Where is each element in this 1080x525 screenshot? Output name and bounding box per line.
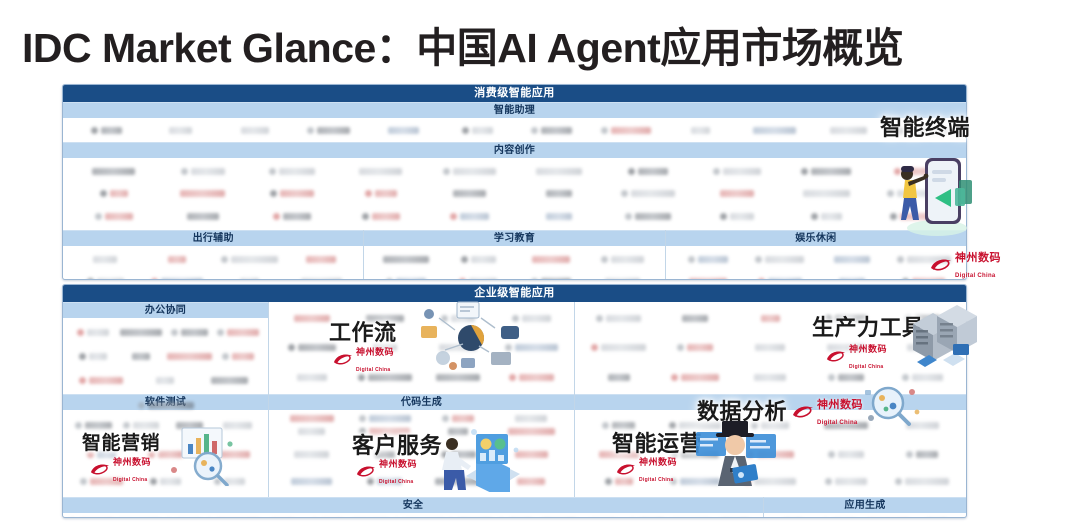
vendor-logo-placeholder — [158, 183, 247, 206]
vendor-logo-placeholder — [117, 344, 165, 368]
vendor-logo-placeholder — [218, 120, 292, 140]
vendor-logo-mark-icon — [307, 127, 314, 134]
vendor-logo-mark-icon — [79, 377, 86, 384]
digital-china-swoosh-icon — [90, 463, 110, 476]
brand-logo-smart-terminal: 神州数码 Digital China — [930, 249, 1001, 281]
vendor-logo-placeholder — [744, 270, 816, 280]
vendor-logo-wordmark — [92, 168, 135, 175]
vendor-logo-placeholder — [247, 205, 336, 228]
vendor-logo-wordmark — [541, 278, 571, 281]
vendor-logo-wordmark — [730, 213, 754, 220]
brand-logo-smart-marketing: 神州数码 Digital China — [90, 453, 151, 485]
brand-name-cn: 神州数码 — [113, 457, 151, 467]
vendor-logo-mark-icon — [677, 344, 684, 351]
vendor-logo-wordmark — [821, 213, 842, 220]
vendor-logo-wordmark — [180, 190, 225, 197]
vendor-logo-wordmark — [546, 190, 572, 197]
vendor-logo-wordmark — [290, 415, 334, 422]
logo-grid-travel-assist — [63, 246, 363, 280]
vendor-logo-wordmark — [839, 278, 865, 281]
vendor-logo-mark-icon — [688, 256, 695, 263]
vendor-logo-placeholder — [166, 320, 214, 344]
vendor-logo-wordmark — [436, 374, 480, 381]
vendor-logo-wordmark — [105, 213, 133, 220]
vendor-logo-wordmark — [448, 428, 468, 435]
vendor-logo-wordmark — [167, 353, 212, 360]
brand-logo-data-analysis: 神州数码 Digital China — [792, 396, 863, 428]
vendor-logo-placeholder — [581, 363, 657, 392]
vendor-logo-mark-icon — [443, 168, 450, 175]
vendor-logo-placeholder — [69, 120, 143, 140]
vendor-logo-placeholder — [812, 120, 886, 140]
vendor-logo-placeholder — [69, 344, 117, 368]
vendor-logo-wordmark — [451, 315, 475, 322]
vendor-logo-placeholder — [884, 468, 960, 495]
vendor-logo-wordmark — [757, 451, 794, 458]
vendor-logo-placeholder — [77, 369, 125, 393]
vendor-logo-placeholder — [693, 160, 782, 183]
callout-label-smart-terminal: 智能终端 — [880, 110, 970, 142]
vendor-logo-placeholder — [214, 344, 262, 368]
vendor-logo-placeholder — [370, 248, 442, 270]
vendor-logo-mark-icon — [811, 213, 818, 220]
column-learning-education: 学习教育 — [364, 230, 665, 280]
vendor-logo-placeholder — [292, 120, 366, 140]
vendor-logo-placeholder — [447, 515, 493, 518]
vendor-logo-placeholder — [816, 248, 888, 270]
vendor-logo-wordmark — [181, 329, 208, 336]
vendor-logo-placeholder — [285, 270, 357, 280]
logo-grid-content-creation — [63, 158, 966, 230]
vendor-logo-placeholder — [495, 333, 568, 362]
enterprise-section-header: 企业级智能应用 — [63, 285, 966, 302]
vendor-logo-mark-icon — [897, 256, 904, 263]
vendor-logo-wordmark — [223, 422, 252, 429]
vendor-logo-placeholder — [820, 515, 858, 518]
vendor-logo-placeholder — [69, 183, 158, 206]
sub-header-app-generation: 应用生成 — [764, 497, 966, 513]
brand-name-en: Digital China — [356, 367, 390, 373]
sub-header-travel-assist: 出行辅助 — [63, 230, 363, 246]
sub-header-learning-education: 学习教育 — [364, 230, 664, 246]
vendor-logo-wordmark — [169, 127, 192, 134]
vendor-logo-wordmark — [907, 344, 938, 351]
vendor-logo-mark-icon — [77, 329, 84, 336]
sub-header-office-collaboration: 办公协同 — [63, 302, 268, 318]
vendor-logo-mark-icon — [906, 451, 913, 458]
vendor-logo-wordmark — [297, 374, 327, 381]
vendor-logo-wordmark — [515, 344, 558, 351]
vendor-logo-wordmark — [460, 213, 489, 220]
vendor-logo-mark-icon — [273, 213, 280, 220]
vendor-logo-mark-icon — [214, 478, 221, 485]
vendor-logo-placeholder — [514, 270, 586, 280]
vendor-logo-wordmark — [369, 415, 411, 422]
vendor-logo-placeholder — [349, 515, 392, 518]
vendor-logo-placeholder — [422, 333, 495, 362]
enterprise-lower-columns — [63, 439, 966, 497]
vendor-logo-wordmark — [811, 168, 851, 175]
vendor-logo-mark-icon — [591, 344, 598, 351]
vendor-logo-wordmark — [601, 344, 646, 351]
vendor-logo-wordmark — [611, 127, 651, 134]
vendor-logo-placeholder — [206, 369, 254, 393]
vendor-logo-placeholder — [336, 205, 425, 228]
vendor-logo-wordmark — [638, 168, 668, 175]
vendor-logo-wordmark — [765, 256, 804, 263]
vendor-logo-placeholder — [214, 320, 262, 344]
column-entertainment-leisure: 娱乐休闲 — [666, 230, 966, 280]
vendor-logo-wordmark — [517, 478, 545, 485]
vendor-logo-wordmark — [375, 190, 397, 197]
vendor-logo-wordmark — [608, 374, 630, 381]
vendor-logo-placeholder — [733, 363, 809, 392]
vendor-logo-mark-icon — [362, 213, 369, 220]
vendor-logo-wordmark — [720, 190, 754, 197]
vendor-logo-placeholder — [884, 412, 960, 438]
vendor-logo-wordmark — [240, 278, 259, 281]
vendor-logo-placeholder — [871, 160, 960, 183]
vendor-logo-mark-icon — [442, 415, 449, 422]
vendor-logo-wordmark — [224, 478, 245, 485]
vendor-logo-placeholder — [604, 205, 693, 228]
vendor-logo-wordmark — [280, 190, 314, 197]
vendor-logo-placeholder — [867, 515, 910, 518]
vendor-logo-placeholder — [422, 468, 495, 495]
vendor-logo-wordmark — [682, 315, 708, 322]
consumer-section-header: 消费级智能应用 — [63, 85, 966, 102]
vendor-logo-mark-icon — [505, 344, 512, 351]
vendor-logo-wordmark — [834, 256, 870, 263]
vendor-logo-wordmark — [97, 278, 124, 281]
vendor-logo-mark-icon — [744, 478, 751, 485]
vendor-logo-placeholder — [582, 515, 625, 518]
page-title: IDC Market Glance：中国AI Agent应用市场概览 — [22, 14, 903, 74]
vendor-logo-mark-icon — [601, 127, 608, 134]
vendor-logo-wordmark — [279, 168, 315, 175]
vendor-logo-placeholder — [495, 441, 568, 468]
vendor-logo-placeholder — [581, 304, 657, 333]
brand-name-cn: 神州数码 — [639, 457, 677, 467]
vendor-logo-placeholder — [918, 515, 956, 518]
vendor-logo-placeholder — [348, 412, 421, 425]
vendor-logo-placeholder — [198, 468, 262, 495]
vendor-logo-mark-icon — [80, 478, 87, 485]
sub-header-code-generation: 代码生成 — [269, 394, 574, 410]
digital-china-swoosh-icon — [792, 405, 814, 419]
vendor-logo-placeholder — [69, 160, 158, 183]
brand-logo-workflow: 神州数码 Digital China — [333, 343, 394, 375]
vendor-logo-placeholder — [494, 515, 537, 518]
sub-header-content-creation: 内容创作 — [63, 142, 966, 158]
vendor-logo-mark-icon — [386, 278, 393, 281]
vendor-logo-placeholder — [657, 363, 733, 392]
vendor-logo-mark-icon — [509, 374, 516, 381]
vendor-logo-wordmark — [606, 315, 641, 322]
vendor-logo-placeholder — [336, 160, 425, 183]
vendor-logo-wordmark — [912, 374, 943, 381]
vendor-logo-wordmark — [916, 451, 938, 458]
vendor-logo-placeholder — [425, 160, 514, 183]
vendor-logo-wordmark — [680, 478, 720, 485]
vendor-logo-wordmark — [754, 374, 786, 381]
vendor-logo-wordmark — [698, 256, 728, 263]
brand-name-en: Digital China — [113, 477, 147, 483]
vendor-logo-wordmark — [754, 478, 796, 485]
vendor-logo-placeholder — [669, 515, 712, 518]
vendor-logo-wordmark — [120, 329, 162, 336]
vendor-logo-mark-icon — [890, 213, 897, 220]
callout-productivity-tools: 生产力工具 — [812, 310, 925, 342]
vendor-logo-placeholder — [158, 205, 247, 228]
vendor-logo-wordmark — [906, 422, 939, 429]
callout-label-data-analysis: 数据分析 — [697, 394, 787, 426]
vendor-logo-mark-icon — [462, 127, 469, 134]
vendor-logo-mark-icon — [755, 256, 762, 263]
vendor-logo-mark-icon — [365, 190, 372, 197]
vendor-logo-mark-icon — [75, 422, 82, 429]
vendor-logo-mark-icon — [828, 451, 835, 458]
vendor-logo-wordmark — [396, 278, 426, 281]
vendor-logo-placeholder — [285, 248, 357, 270]
vendor-logo-wordmark — [755, 344, 785, 351]
vendor-logo-mark-icon — [720, 213, 727, 220]
vendor-logo-placeholder — [514, 160, 603, 183]
vendor-logo-placeholder — [158, 160, 247, 183]
vendor-logo-placeholder — [275, 441, 348, 468]
vendor-logo-placeholder — [442, 248, 514, 270]
vendor-logo-placeholder — [425, 205, 514, 228]
vendor-logo-placeholder — [69, 205, 158, 228]
vendor-logo-mark-icon — [359, 415, 366, 422]
vendor-logo-placeholder — [515, 120, 589, 140]
vendor-logo-mark-icon — [171, 329, 178, 336]
digital-china-swoosh-icon — [930, 258, 952, 272]
vendor-logo-wordmark — [472, 127, 493, 134]
vendor-logo-placeholder — [422, 412, 495, 425]
enterprise-bottom-columns: 安全 应用生成 — [63, 497, 966, 518]
vendor-logo-wordmark — [294, 315, 330, 322]
logo-grid-workflow — [269, 302, 574, 394]
slide-canvas: IDC Market Glance：中国AI Agent应用市场概览 消费级智能… — [0, 0, 1080, 525]
vendor-logo-wordmark — [515, 415, 547, 422]
callout-label-smart-marketing: 智能营销 — [82, 428, 160, 455]
logo-grid-office-collaboration — [63, 318, 268, 395]
vendor-logo-placeholder — [166, 344, 214, 368]
vendor-logo-wordmark — [453, 168, 496, 175]
vendor-logo-wordmark — [631, 190, 675, 197]
vendor-logo-wordmark — [635, 213, 671, 220]
vendor-logo-wordmark — [723, 168, 761, 175]
vendor-logo-wordmark — [132, 353, 150, 360]
vendor-logo-placeholder — [422, 363, 495, 392]
vendor-logo-mark-icon — [758, 278, 765, 281]
vendor-logo-placeholder — [871, 205, 960, 228]
vendor-logo-wordmark — [191, 168, 225, 175]
vendor-logo-mark-icon — [269, 168, 276, 175]
vendor-logo-mark-icon — [713, 168, 720, 175]
vendor-logo-mark-icon — [79, 353, 86, 360]
digital-china-swoosh-icon — [826, 350, 846, 363]
vendor-logo-wordmark — [905, 478, 949, 485]
vendor-logo-wordmark — [541, 127, 572, 134]
vendor-logo-wordmark — [298, 428, 325, 435]
vendor-logo-wordmark — [471, 256, 496, 263]
vendor-logo-wordmark — [803, 190, 850, 197]
brand-name-en: Digital China — [955, 273, 996, 279]
vendor-logo-placeholder — [733, 333, 809, 362]
column-app-generation: 应用生成 — [764, 497, 966, 518]
column-security: 安全 — [63, 497, 764, 518]
vendor-logo-placeholder — [247, 183, 336, 206]
vendor-logo-wordmark — [900, 213, 941, 220]
vendor-logo-mark-icon — [828, 374, 835, 381]
vendor-logo-wordmark — [158, 451, 183, 458]
vendor-logo-placeholder — [69, 270, 141, 280]
vendor-logo-placeholder — [808, 468, 884, 495]
vendor-logo-wordmark — [838, 374, 864, 381]
vendor-logo-wordmark — [452, 415, 474, 422]
vendor-logo-placeholder — [141, 248, 213, 270]
vendor-logo-placeholder — [782, 183, 871, 206]
vendor-logo-placeholder — [884, 363, 960, 392]
vendor-logo-placeholder — [782, 160, 871, 183]
vendor-logo-mark-icon — [441, 315, 448, 322]
vendor-logo-mark-icon — [531, 127, 538, 134]
vendor-logo-wordmark — [187, 213, 219, 220]
vendor-logo-wordmark — [546, 213, 572, 220]
vendor-logo-placeholder — [589, 120, 663, 140]
vendor-logo-placeholder — [884, 441, 960, 468]
vendor-logo-placeholder — [213, 270, 285, 280]
vendor-logo-wordmark — [372, 213, 400, 220]
brand-name-cn: 神州数码 — [356, 347, 394, 357]
vendor-logo-wordmark — [904, 168, 936, 175]
vendor-logo-placeholder — [141, 270, 213, 280]
vendor-logo-wordmark — [691, 127, 710, 134]
logo-grid-learning-education — [364, 246, 664, 280]
vendor-logo-wordmark — [681, 374, 719, 381]
brand-name-cn: 神州数码 — [817, 399, 863, 411]
vendor-logo-wordmark — [220, 451, 250, 458]
vendor-logo-wordmark — [536, 168, 582, 175]
sub-header-smart-assistant: 智能助理 — [63, 102, 966, 118]
vendor-logo-placeholder — [393, 515, 446, 518]
vendor-logo-mark-icon — [621, 190, 628, 197]
brand-name-en: Digital China — [379, 479, 413, 485]
vendor-logo-placeholder — [495, 425, 568, 438]
callout-data-analysis: 数据分析 — [697, 394, 787, 426]
vendor-logo-mark-icon — [894, 168, 901, 175]
vendor-logo-placeholder — [495, 304, 568, 333]
vendor-logo-placeholder — [247, 160, 336, 183]
vendor-logo-placeholder — [422, 304, 495, 333]
logo-grid-entertainment-leisure — [666, 246, 966, 280]
vendor-logo-mark-icon — [825, 478, 832, 485]
vendor-logo-placeholder — [336, 183, 425, 206]
vendor-logo-wordmark — [93, 256, 117, 263]
column-workflow-area — [269, 302, 575, 394]
vendor-logo-placeholder — [744, 248, 816, 270]
vendor-logo-placeholder — [143, 120, 217, 140]
vendor-logo-wordmark — [148, 402, 194, 409]
vendor-logo-mark-icon — [531, 278, 538, 281]
callout-smart-marketing: 智能营销 — [82, 428, 160, 455]
vendor-logo-placeholder — [425, 183, 514, 206]
vendor-logo-placeholder — [116, 515, 161, 518]
vendor-logo-mark-icon — [887, 190, 894, 197]
vendor-logo-wordmark — [453, 190, 486, 197]
vendor-logo-mark-icon — [461, 256, 468, 263]
vendor-logo-wordmark — [317, 127, 350, 134]
brand-logo-customer-service: 神州数码 Digital China — [356, 455, 417, 487]
vendor-logo-placeholder — [206, 515, 260, 518]
vendor-logo-wordmark — [451, 451, 476, 458]
vendor-logo-wordmark — [687, 344, 713, 351]
vendor-logo-placeholder — [370, 270, 442, 280]
vendor-logo-wordmark — [508, 428, 555, 435]
brand-logo-smart-operations: 神州数码 Digital China — [616, 453, 677, 485]
vendor-logo-placeholder — [166, 412, 214, 438]
vendor-logo-placeholder — [440, 120, 514, 140]
vendor-logo-wordmark — [301, 278, 342, 281]
vendor-logo-placeholder — [657, 333, 733, 362]
vendor-logo-placeholder — [514, 205, 603, 228]
vendor-logo-placeholder — [514, 248, 586, 270]
vendor-logo-mark-icon — [95, 213, 102, 220]
vendor-logo-mark-icon — [895, 478, 902, 485]
vendor-logo-mark-icon — [902, 374, 909, 381]
vendor-logo-wordmark — [532, 256, 570, 263]
vendor-logo-placeholder — [305, 515, 348, 518]
vendor-logo-mark-icon — [270, 190, 277, 197]
vendor-logo-placeholder — [366, 120, 440, 140]
vendor-logo-wordmark — [435, 478, 481, 485]
vendor-logo-wordmark — [168, 256, 186, 263]
vendor-logo-placeholder — [737, 120, 811, 140]
vendor-logo-placeholder — [495, 363, 568, 392]
vendor-logo-placeholder — [538, 515, 581, 518]
vendor-logo-placeholder — [69, 320, 117, 344]
vendor-logo-placeholder — [275, 425, 348, 438]
vendor-logo-wordmark — [232, 353, 254, 360]
consumer-column-group: 出行辅助 学习教育 娱乐休闲 — [63, 230, 966, 280]
vendor-logo-mark-icon — [601, 256, 608, 263]
logo-grid-security — [63, 513, 763, 518]
vendor-logo-placeholder — [214, 412, 262, 438]
vendor-logo-placeholder — [733, 441, 809, 468]
vendor-logo-mark-icon — [625, 213, 632, 220]
brand-name-cn: 神州数码 — [849, 344, 887, 354]
vendor-logo-wordmark — [110, 190, 128, 197]
column-office-collaboration: 办公协同 — [63, 302, 269, 394]
vendor-logo-wordmark — [519, 374, 554, 381]
vendor-logo-placeholder — [782, 205, 871, 228]
digital-china-swoosh-icon — [616, 463, 636, 476]
vendor-logo-placeholder — [733, 468, 809, 495]
vendor-logo-wordmark — [611, 256, 644, 263]
vendor-logo-mark-icon — [151, 278, 158, 281]
digital-china-swoosh-icon — [356, 465, 376, 478]
vendor-logo-placeholder — [604, 183, 693, 206]
vendor-logo-mark-icon — [747, 451, 754, 458]
vendor-logo-wordmark — [227, 329, 259, 336]
vendor-logo-placeholder — [808, 441, 884, 468]
vendor-logo-wordmark — [89, 377, 123, 384]
vendor-logo-mark-icon — [138, 402, 145, 409]
vendor-logo-placeholder — [774, 515, 812, 518]
vendor-logo-wordmark — [522, 315, 551, 322]
